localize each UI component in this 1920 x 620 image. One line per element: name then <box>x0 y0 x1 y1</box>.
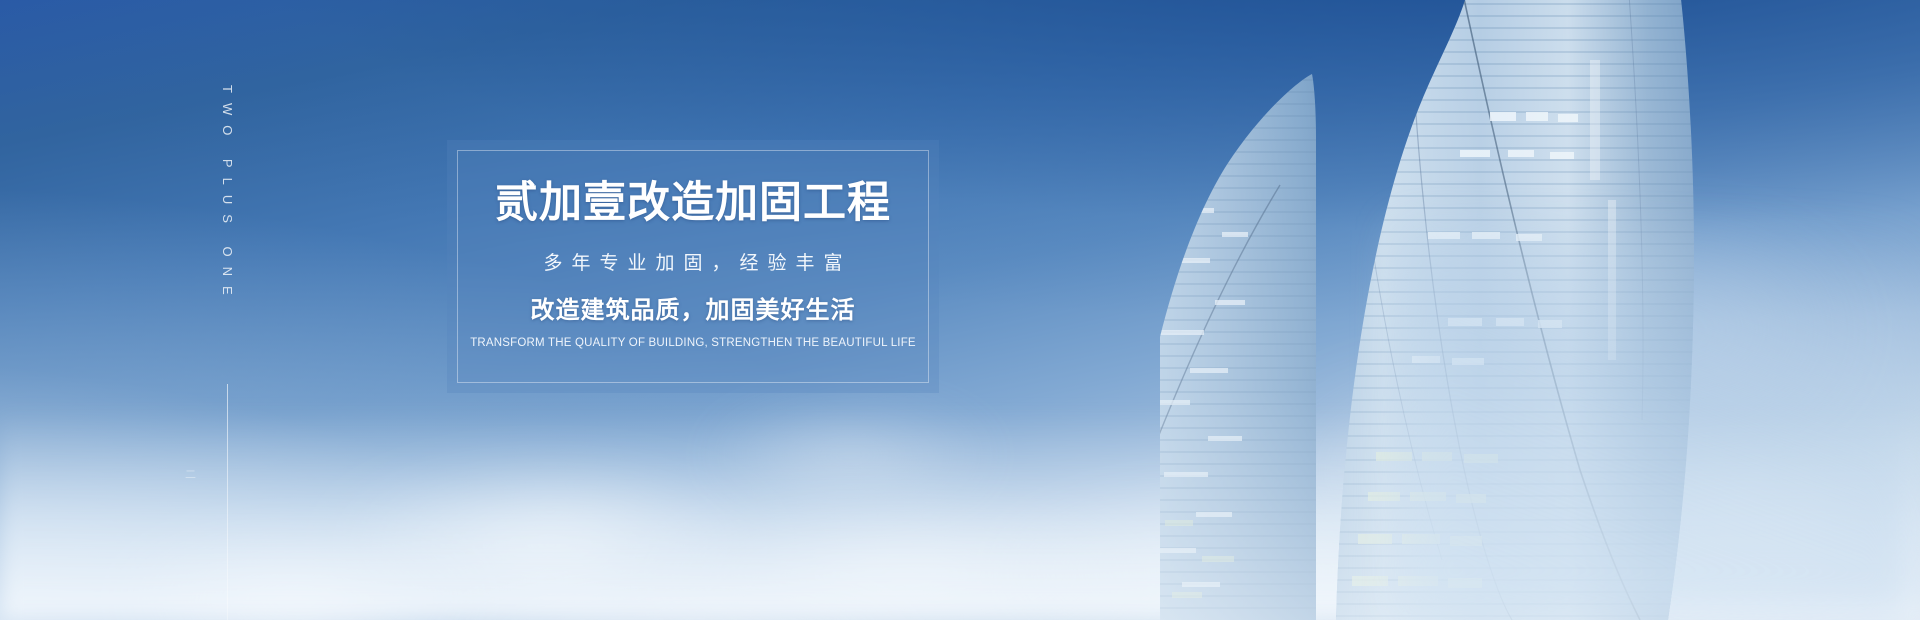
brand-divider-line <box>227 384 228 620</box>
panel-content: 贰加壹改造加固工程 多年专业加固，经验丰富 改造建筑品质，加固美好生活 TRAN… <box>447 140 939 393</box>
hero-subline: 多年专业加固，经验丰富 <box>534 254 851 273</box>
hero-banner: TWO PLUS ONE 二 贰加壹改造加固工程 多年专业加固，经验丰富 改造建… <box>0 0 1920 620</box>
hero-tagline: 改造建筑品质，加固美好生活 <box>531 299 856 323</box>
skyscraper-illustration <box>1160 0 1920 620</box>
hero-headline: 贰加壹改造加固工程 <box>495 182 891 225</box>
brand-vertical-text: TWO PLUS ONE <box>220 85 235 305</box>
hero-text-panel: 贰加壹改造加固工程 多年专业加固，经验丰富 改造建筑品质，加固美好生活 TRAN… <box>447 140 939 393</box>
brand-corner-mark: 二 <box>185 466 197 482</box>
hero-english-tagline: TRANSFORM THE QUALITY OF BUILDING, STREN… <box>470 338 916 350</box>
brand-rail: TWO PLUS ONE 二 <box>227 0 229 620</box>
